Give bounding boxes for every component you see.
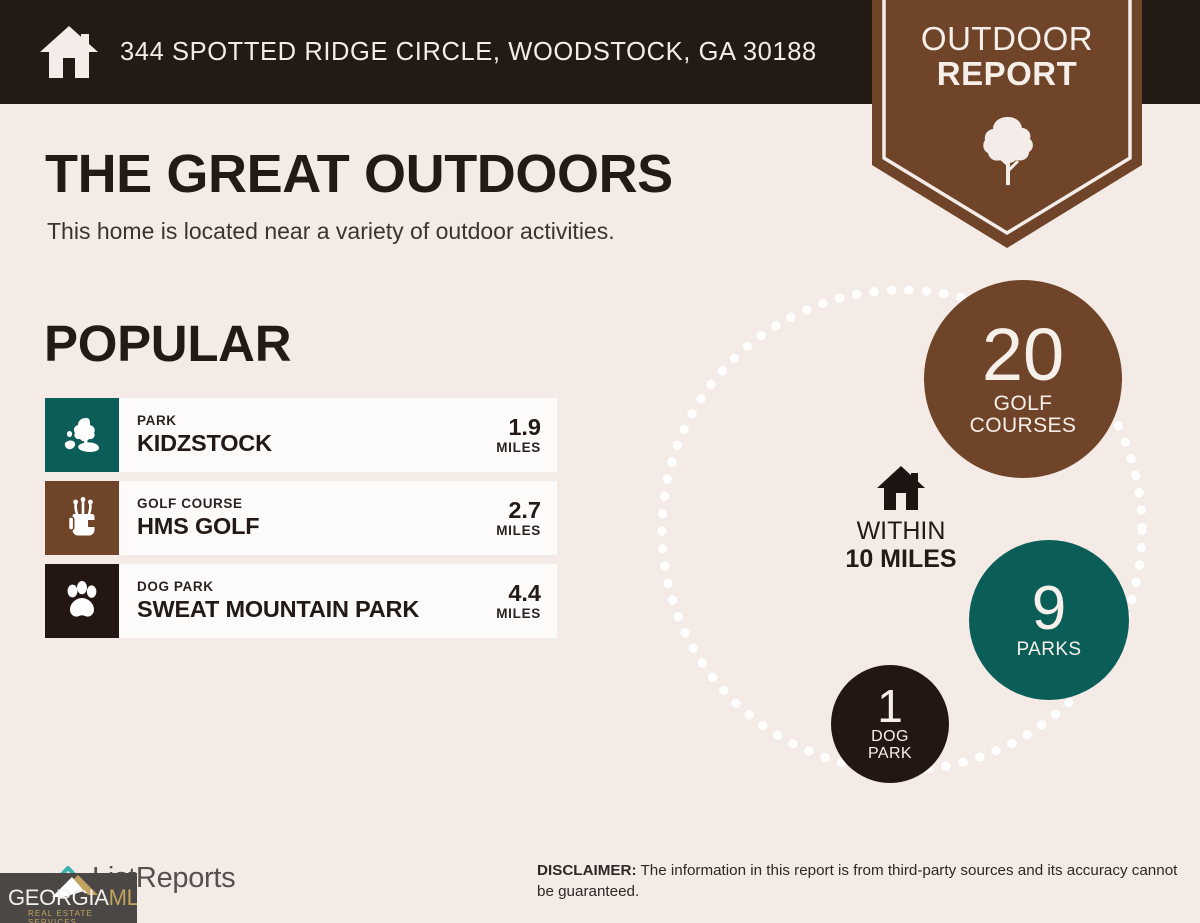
georgia-mls-watermark: GEORGIA MLS REAL ESTATE SERVICES	[0, 873, 137, 923]
list-item[interactable]: DOG PARK SWEAT MOUNTAIN PARK 4.4 MILES	[45, 564, 557, 638]
bubble-label-line1: GOLF	[994, 393, 1053, 415]
home-icon	[875, 464, 927, 512]
bubble-label-line1: PARKS	[1016, 640, 1081, 660]
mls-tagline: REAL ESTATE SERVICES	[28, 909, 137, 923]
home-icon	[38, 24, 100, 80]
poi-name: HMS GOLF	[137, 513, 259, 540]
popular-section-heading: POPULAR	[44, 314, 291, 373]
poi-distance: 2.7 MILES	[496, 498, 541, 539]
list-item[interactable]: GOLF COURSE HMS GOLF 2.7 MILES	[45, 481, 557, 555]
poi-distance-value: 2.7	[496, 498, 541, 524]
poi-distance-value: 1.9	[496, 415, 541, 441]
bubble-dog-park: 1 DOG PARK	[831, 665, 949, 783]
mls-mls-text: MLS	[109, 885, 137, 911]
bubble-value: 9	[1032, 580, 1066, 637]
popular-list: PARK KIDZSTOCK 1.9 MILES	[45, 398, 557, 647]
bubble-value: 20	[982, 321, 1064, 389]
park-tree-icon	[45, 398, 119, 472]
bubble-golf-courses: 20 GOLF COURSES	[924, 280, 1122, 478]
center-label-line2: 10 MILES	[796, 545, 1006, 573]
tree-icon	[980, 113, 1036, 189]
poi-category: PARK	[137, 413, 272, 429]
disclaimer: DISCLAIMER: The information in this repo…	[537, 861, 1197, 902]
poi-name: SWEAT MOUNTAIN PARK	[137, 596, 419, 623]
list-item[interactable]: PARK KIDZSTOCK 1.9 MILES	[45, 398, 557, 472]
poi-distance-unit: MILES	[496, 606, 541, 621]
list-item-body: PARK KIDZSTOCK 1.9 MILES	[119, 398, 557, 472]
poi-distance-unit: MILES	[496, 440, 541, 455]
poi-distance-unit: MILES	[496, 523, 541, 538]
poi-distance: 1.9 MILES	[496, 415, 541, 456]
golf-bag-icon	[45, 481, 119, 555]
poi-category: GOLF COURSE	[137, 496, 259, 512]
bubble-label-line1: DOG	[871, 729, 909, 746]
paw-print-icon	[45, 564, 119, 638]
bubble-value: 1	[877, 685, 903, 727]
center-label-line1: WITHIN	[796, 517, 1006, 545]
page-subtitle: This home is located near a variety of o…	[47, 218, 615, 245]
mls-wordmark: GEORGIA MLS	[8, 885, 137, 911]
poi-distance-value: 4.4	[496, 581, 541, 607]
poi-category: DOG PARK	[137, 579, 419, 595]
bubble-label-line2: PARK	[868, 746, 912, 763]
property-address: 344 SPOTTED RIDGE CIRCLE, WOODSTOCK, GA …	[120, 38, 817, 67]
poi-name: KIDZSTOCK	[137, 430, 272, 457]
list-item-body: GOLF COURSE HMS GOLF 2.7 MILES	[119, 481, 557, 555]
outdoor-report-page: 344 SPOTTED RIDGE CIRCLE, WOODSTOCK, GA …	[0, 0, 1200, 923]
diagram-center-label: WITHIN 10 MILES	[796, 464, 1006, 573]
list-item-body: DOG PARK SWEAT MOUNTAIN PARK 4.4 MILES	[119, 564, 557, 638]
mls-georgia-text: GEORGIA	[8, 885, 109, 911]
outdoor-report-badge: OUTDOOR REPORT	[862, 0, 1152, 250]
page-title: THE GREAT OUTDOORS	[45, 143, 673, 205]
bubble-label-line2: COURSES	[970, 415, 1077, 437]
within-10-miles-diagram: 20 GOLF COURSES 9 PARKS 1 DOG PARK WITHI…	[620, 268, 1180, 813]
disclaimer-label: DISCLAIMER:	[537, 862, 637, 879]
poi-distance: 4.4 MILES	[496, 581, 541, 622]
